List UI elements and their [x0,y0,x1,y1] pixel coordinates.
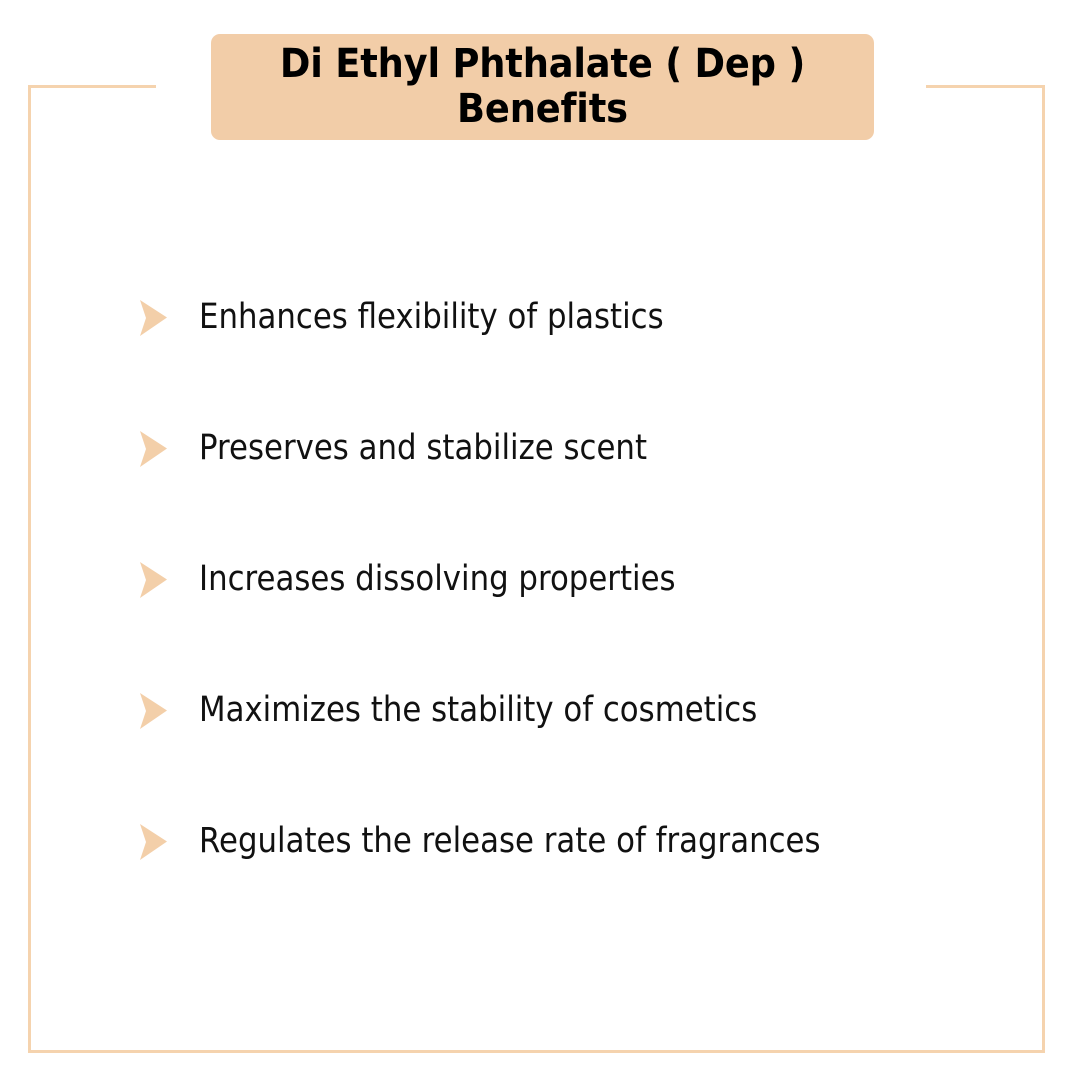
benefit-label: Increases dissolving properties [199,560,676,599]
benefit-label: Maximizes the stability of cosmetics [199,691,757,730]
page-title: Di Ethyl Phthalate ( Dep ) Benefits [280,42,805,132]
benefits-list: Enhances flexibility of plastics Preserv… [136,252,996,907]
arrow-right-icon [136,822,170,862]
frame-border-top-left [28,85,156,88]
benefit-label: Regulates the release rate of fragrances [199,822,821,861]
frame-border-bottom [28,1050,1045,1053]
list-item: Increases dissolving properties [136,514,996,645]
frame-border-left [28,85,31,1053]
benefit-label: Enhances flexibility of plastics [199,298,664,337]
infographic-poster: Di Ethyl Phthalate ( Dep ) Benefits Enha… [0,0,1080,1080]
arrow-right-icon [136,560,170,600]
arrow-right-icon [136,691,170,731]
arrow-right-icon [136,298,170,338]
list-item: Maximizes the stability of cosmetics [136,645,996,776]
frame-border-right [1042,85,1045,1053]
list-item: Enhances flexibility of plastics [136,252,996,383]
arrow-right-icon [136,429,170,469]
title-banner: Di Ethyl Phthalate ( Dep ) Benefits [211,34,874,140]
frame-border-top-right [926,85,1045,88]
list-item: Preserves and stabilize scent [136,383,996,514]
benefit-label: Preserves and stabilize scent [199,429,647,468]
list-item: Regulates the release rate of fragrances [136,776,996,907]
